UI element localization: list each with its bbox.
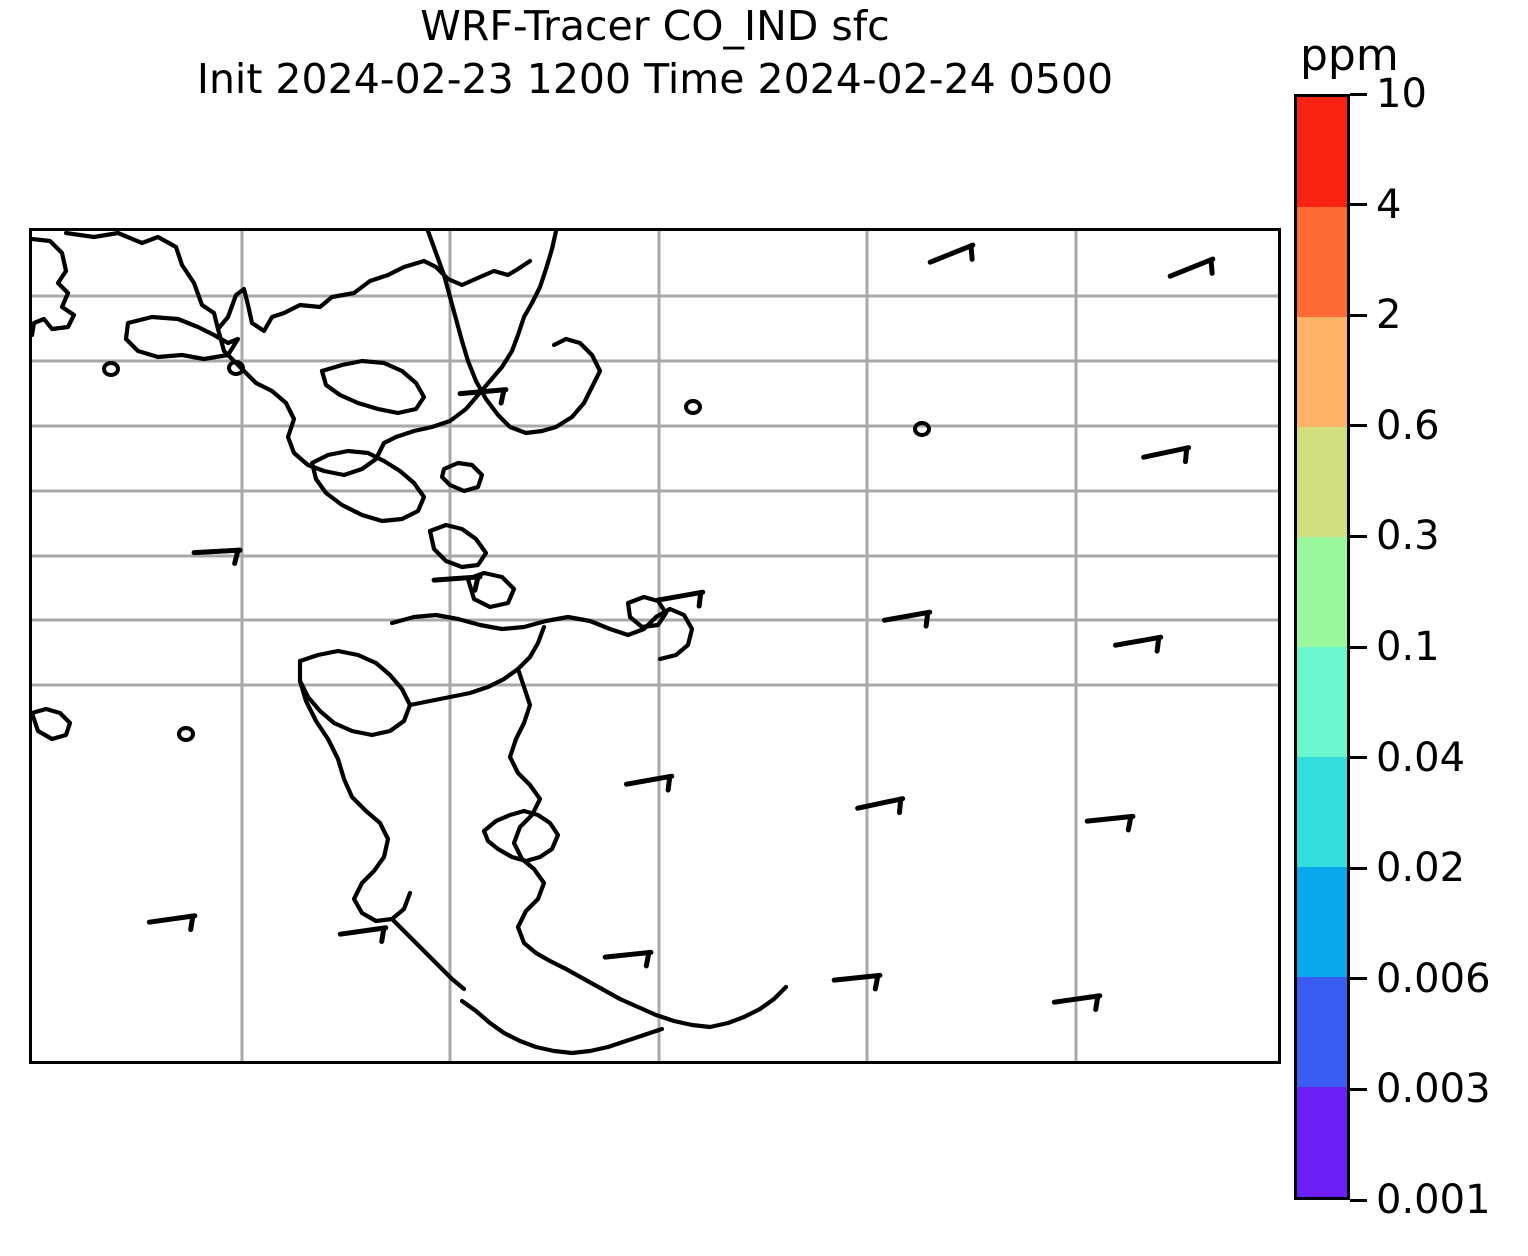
colorbar-tick-label-0: 10 [1376, 71, 1427, 117]
colorbar-band-5 [1297, 647, 1347, 757]
title-line-1: WRF-Tracer CO_IND sfc [0, 0, 1310, 53]
colorbar-tick-label-9: 0.003 [1376, 1066, 1491, 1112]
wind-barb-15 [834, 975, 881, 993]
island-marker-2 [686, 401, 700, 413]
colorbar-tick-4 [1350, 535, 1367, 538]
wind-barb-8 [1115, 637, 1163, 658]
colorbar-tick-label-8: 0.006 [1376, 956, 1491, 1002]
island-marker-0 [104, 363, 118, 375]
map-panel[interactable] [29, 228, 1281, 1064]
colorbar-tick-label-7: 0.02 [1376, 845, 1465, 891]
colorbar-band-7 [1297, 867, 1347, 977]
colorbar-tick-7 [1350, 867, 1367, 870]
wind-barb-0 [930, 245, 978, 274]
colorbar-tick-label-2: 2 [1376, 292, 1401, 338]
colorbar-band-6 [1297, 757, 1347, 867]
colorbar-band-3 [1297, 427, 1347, 537]
wind-barb-10 [858, 799, 906, 821]
colorbar-band-1 [1297, 207, 1347, 317]
wind-barb-3 [1144, 448, 1192, 470]
island-marker-4 [179, 728, 193, 740]
colorbar-tick-label-5: 0.1 [1376, 624, 1440, 670]
colorbar-tick-8 [1350, 977, 1367, 980]
colorbar-tick-label-6: 0.04 [1376, 735, 1465, 781]
title-line-2: Init 2024-02-23 1200 Time 2024-02-24 050… [0, 53, 1310, 106]
wind-barb-4 [194, 550, 241, 565]
wind-barb-14 [605, 952, 652, 970]
wind-barb-9 [626, 776, 674, 797]
colorbar-tick-0 [1350, 93, 1367, 96]
wind-barb-12 [149, 916, 196, 935]
colorbar-band-2 [1297, 317, 1347, 427]
coastline-paths [32, 231, 786, 1053]
island-marker-3 [915, 423, 929, 435]
wind-barb-7 [884, 612, 932, 633]
plot-title: WRF-Tracer CO_IND sfc Init 2024-02-23 12… [0, 0, 1310, 106]
colorbar-tick-label-10: 0.001 [1376, 1177, 1491, 1223]
colorbar-band-4 [1297, 537, 1347, 647]
wind-barb-5 [434, 577, 481, 593]
colorbar-tick-2 [1350, 314, 1367, 317]
colorbar-band-9 [1297, 1087, 1347, 1197]
wind-barb-11 [1087, 816, 1134, 834]
colorbar-tick-6 [1350, 756, 1367, 759]
wind-barb-1 [1170, 259, 1218, 288]
colorbar-gradient [1294, 94, 1350, 1200]
map-canvas [32, 231, 1278, 1061]
colorbar-tick-10 [1350, 1199, 1367, 1202]
colorbar-tick-5 [1350, 646, 1367, 649]
colorbar-tick-label-1: 4 [1376, 182, 1401, 228]
colorbar-band-8 [1297, 977, 1347, 1087]
colorbar-band-0 [1297, 97, 1347, 207]
wind-barb-16 [1054, 996, 1101, 1015]
colorbar-tick-label-3: 0.6 [1376, 403, 1440, 449]
colorbar-tick-1 [1350, 203, 1367, 206]
colorbar-tick-3 [1350, 424, 1367, 427]
colorbar-tick-9 [1350, 1088, 1367, 1091]
wind-barb-13 [340, 928, 387, 947]
colorbar-tick-label-4: 0.3 [1376, 513, 1440, 559]
colorbar[interactable]: 10420.60.30.10.040.020.0060.0030.001 [1294, 94, 1350, 1200]
